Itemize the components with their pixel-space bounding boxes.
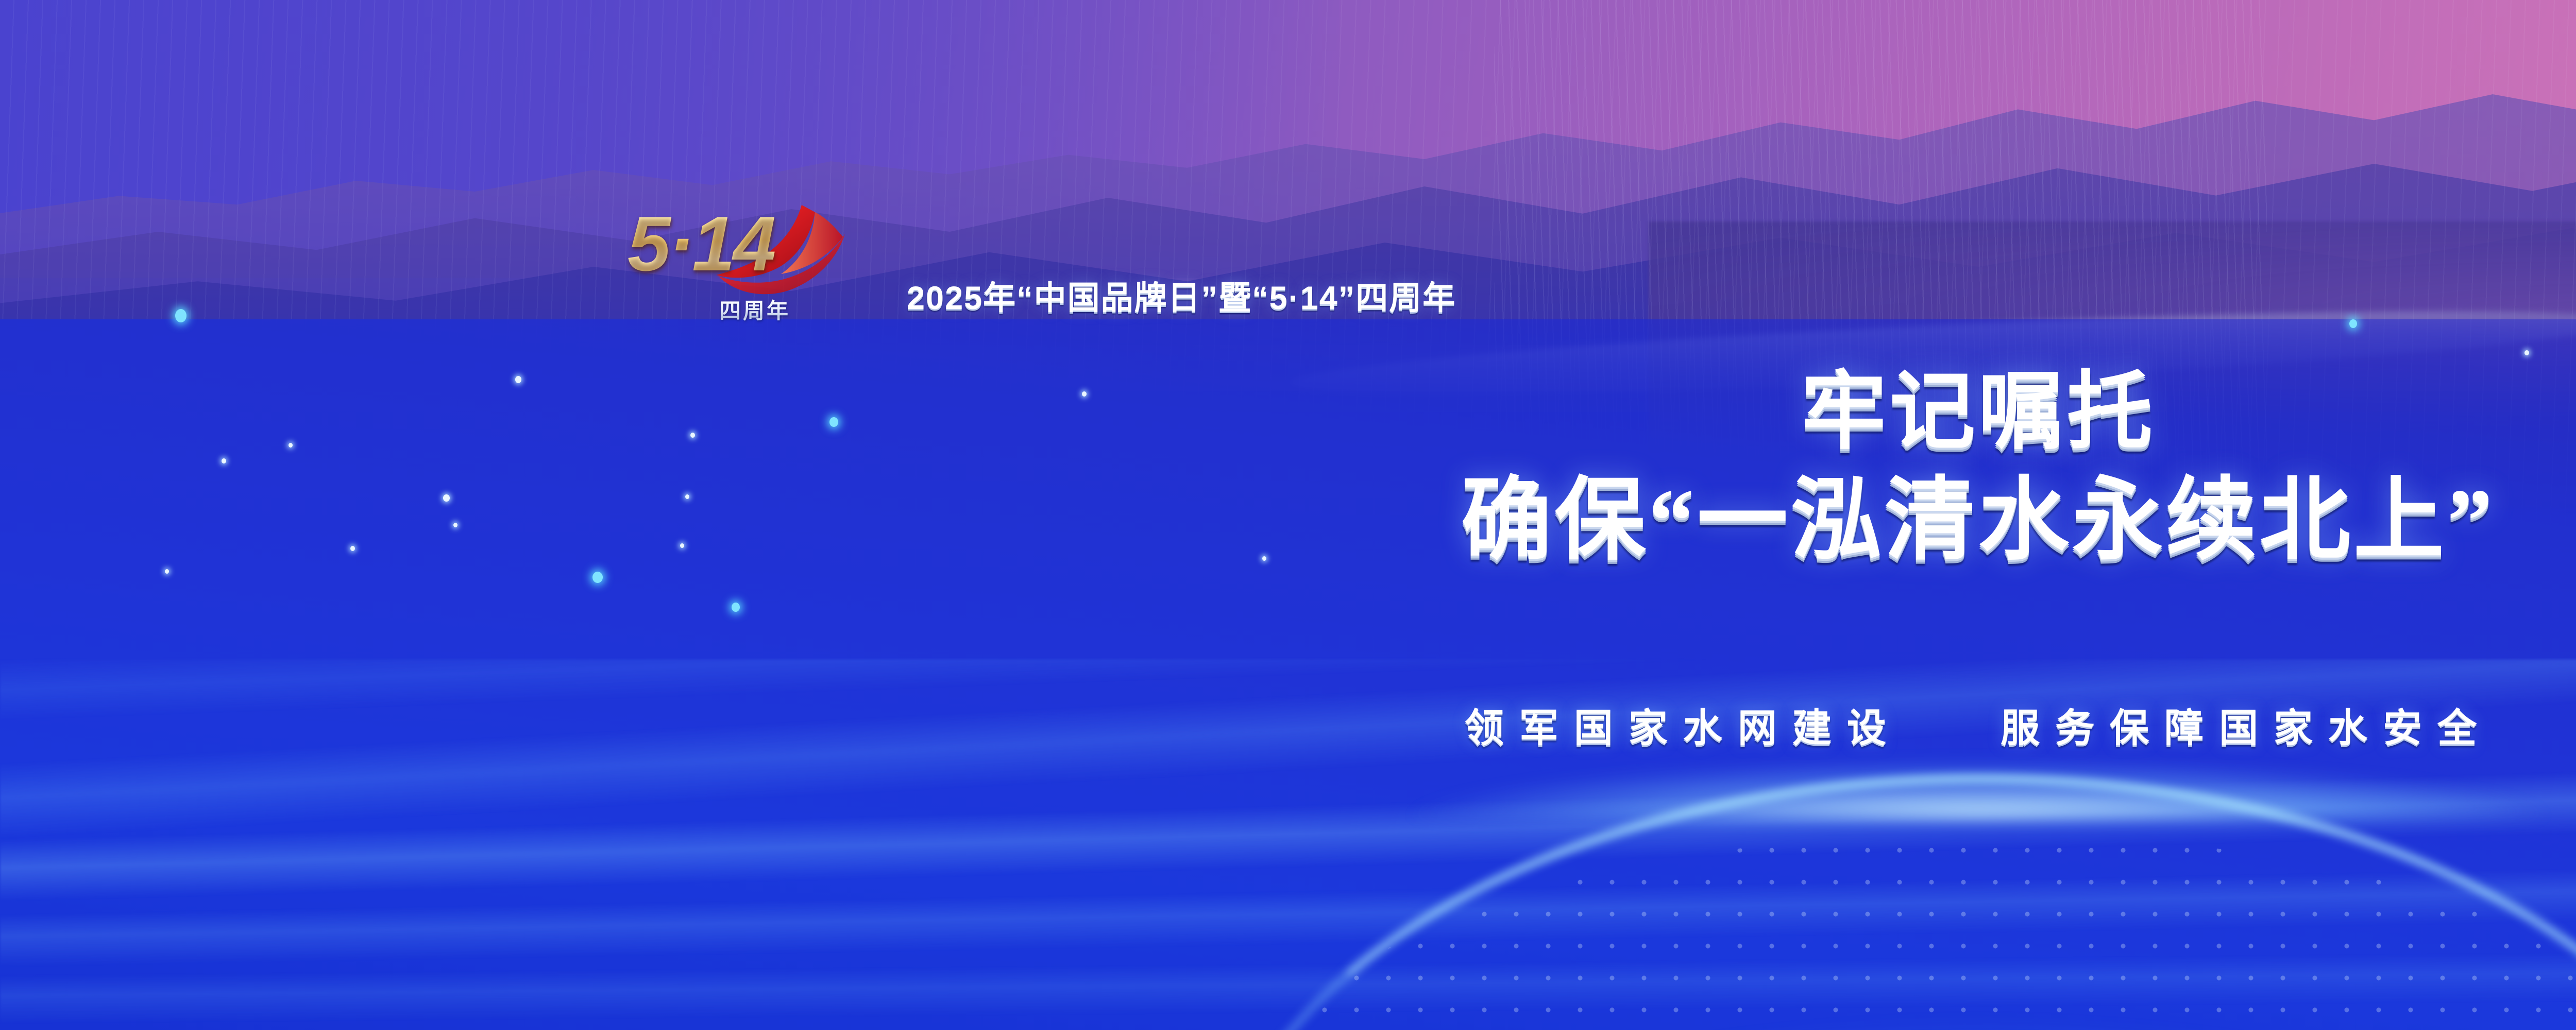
anniversary-label: 四周年	[719, 299, 838, 323]
headline-block: 牢记嘱托 确保“一泓清水永续北上”	[0, 360, 2576, 576]
subtitle-part-1: 领军国家水网建设	[1465, 707, 1902, 750]
headline-line-2: 确保“一泓清水永续北上”	[0, 467, 2576, 576]
subtitle-part-2: 服务保障国家水安全	[2001, 707, 2492, 750]
poster-stage: 5·14 四周年 2025年“中国品牌日”暨“5·14”四周年 牢记嘱托 确保“…	[0, 0, 2576, 1030]
event-title-line: 2025年“中国品牌日”暨“5·14”四周年	[907, 272, 1456, 319]
anniversary-logo: 5·14 四周年	[628, 205, 865, 334]
subtitle-line: 领军国家水网建设 服务保障国家水安全	[0, 696, 2576, 753]
anniversary-number: 5·14	[628, 205, 798, 298]
headline-line-1: 牢记嘱托	[0, 360, 2576, 463]
